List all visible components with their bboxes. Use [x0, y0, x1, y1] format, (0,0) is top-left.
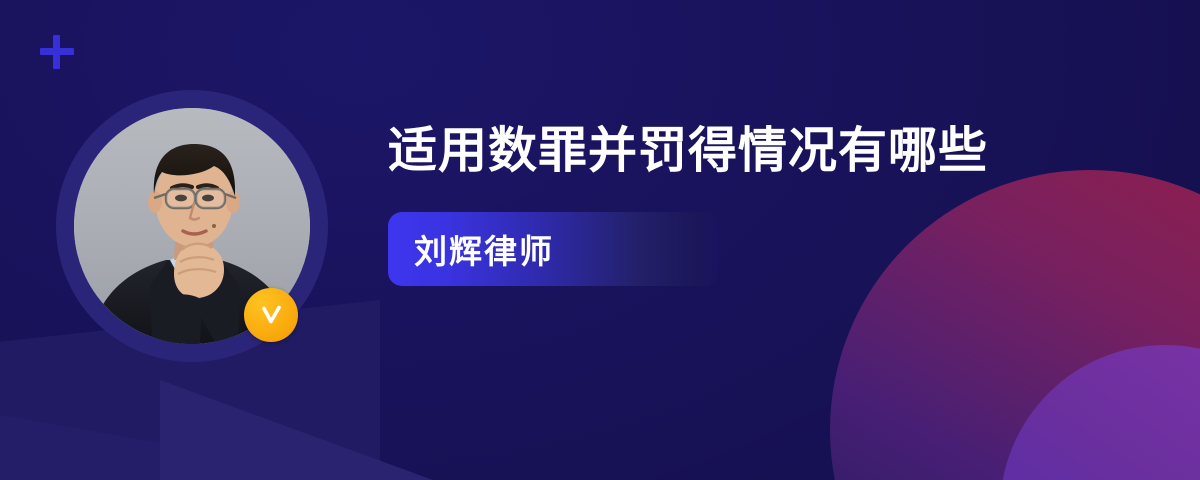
decorative-polygon-center [160, 380, 460, 480]
cover-content: 适用数罪并罚得情况有哪些 刘辉律师 [388, 112, 1088, 286]
verified-check-v-icon [244, 288, 298, 342]
avatar [56, 90, 328, 362]
article-cover-banner: 适用数罪并罚得情况有哪些 刘辉律师 [0, 0, 1200, 480]
page-title: 适用数罪并罚得情况有哪些 [388, 112, 1068, 190]
decorative-polygon-corner [0, 415, 160, 480]
decorative-gradient-circle-inner [1000, 345, 1200, 480]
plus-icon [40, 35, 74, 69]
author-button[interactable]: 刘辉律师 [388, 212, 718, 286]
